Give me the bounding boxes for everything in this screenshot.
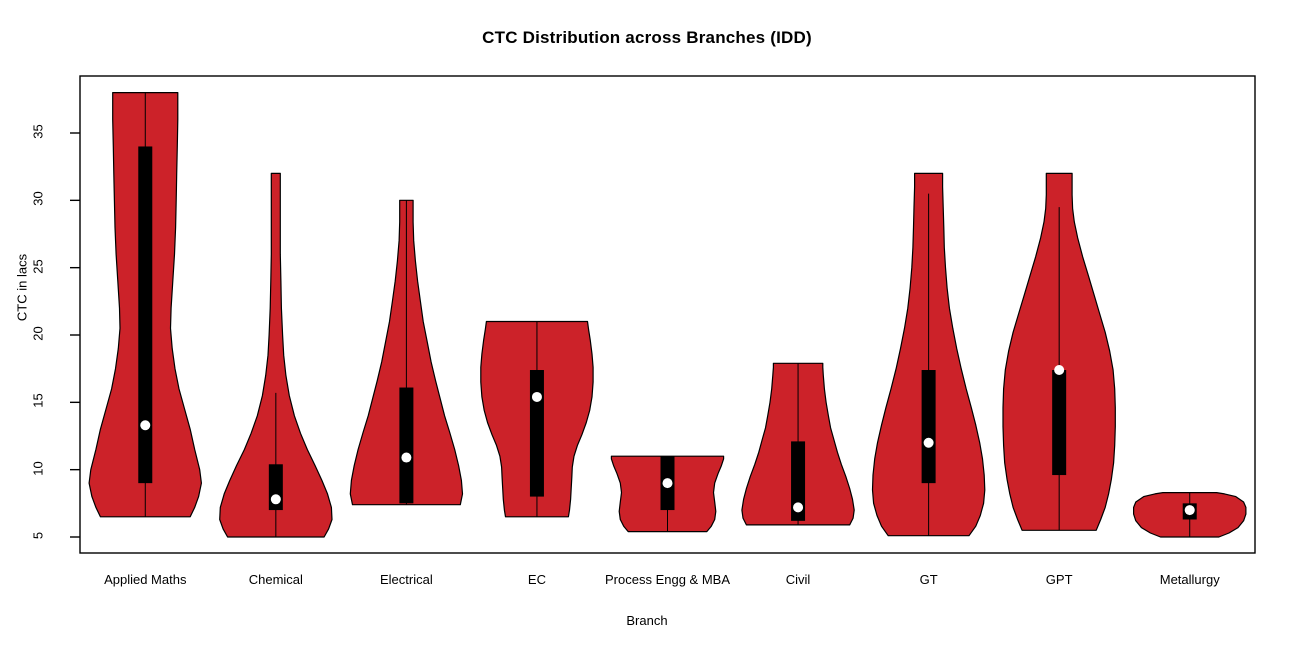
violin-electrical	[350, 200, 462, 504]
violin-gt	[873, 173, 985, 535]
violin-process-engg-mba	[611, 456, 723, 531]
median-marker	[1054, 365, 1064, 375]
median-marker	[140, 420, 150, 430]
violin-plot-figure: CTC Distribution across Branches (IDD) C…	[0, 0, 1294, 653]
violin-chemical	[220, 173, 332, 537]
iqr-box	[399, 388, 413, 504]
plot-area	[0, 0, 1294, 653]
median-marker	[924, 438, 934, 448]
iqr-box	[922, 370, 936, 483]
median-marker	[793, 502, 803, 512]
median-marker	[532, 392, 542, 402]
iqr-box	[1052, 370, 1066, 475]
violin-ec	[481, 322, 593, 517]
median-marker	[1185, 505, 1195, 515]
iqr-box	[530, 370, 544, 497]
y-tick-label: 20	[31, 314, 46, 354]
x-tick-label: Metallurgy	[1080, 572, 1294, 587]
violin-gpt	[1003, 173, 1115, 530]
y-tick-label: 30	[31, 179, 46, 219]
iqr-box	[138, 146, 152, 483]
y-tick-label: 15	[31, 381, 46, 421]
violin-metallurgy	[1134, 493, 1246, 537]
y-tick-label: 35	[31, 112, 46, 152]
y-tick-label: 5	[31, 516, 46, 556]
median-marker	[271, 494, 281, 504]
median-marker	[401, 453, 411, 463]
violin-applied-maths	[89, 93, 201, 517]
median-marker	[663, 478, 673, 488]
violins-group	[89, 93, 1246, 537]
y-tick-label: 25	[31, 246, 46, 286]
violin-civil	[742, 363, 854, 525]
y-tick-label: 10	[31, 448, 46, 488]
